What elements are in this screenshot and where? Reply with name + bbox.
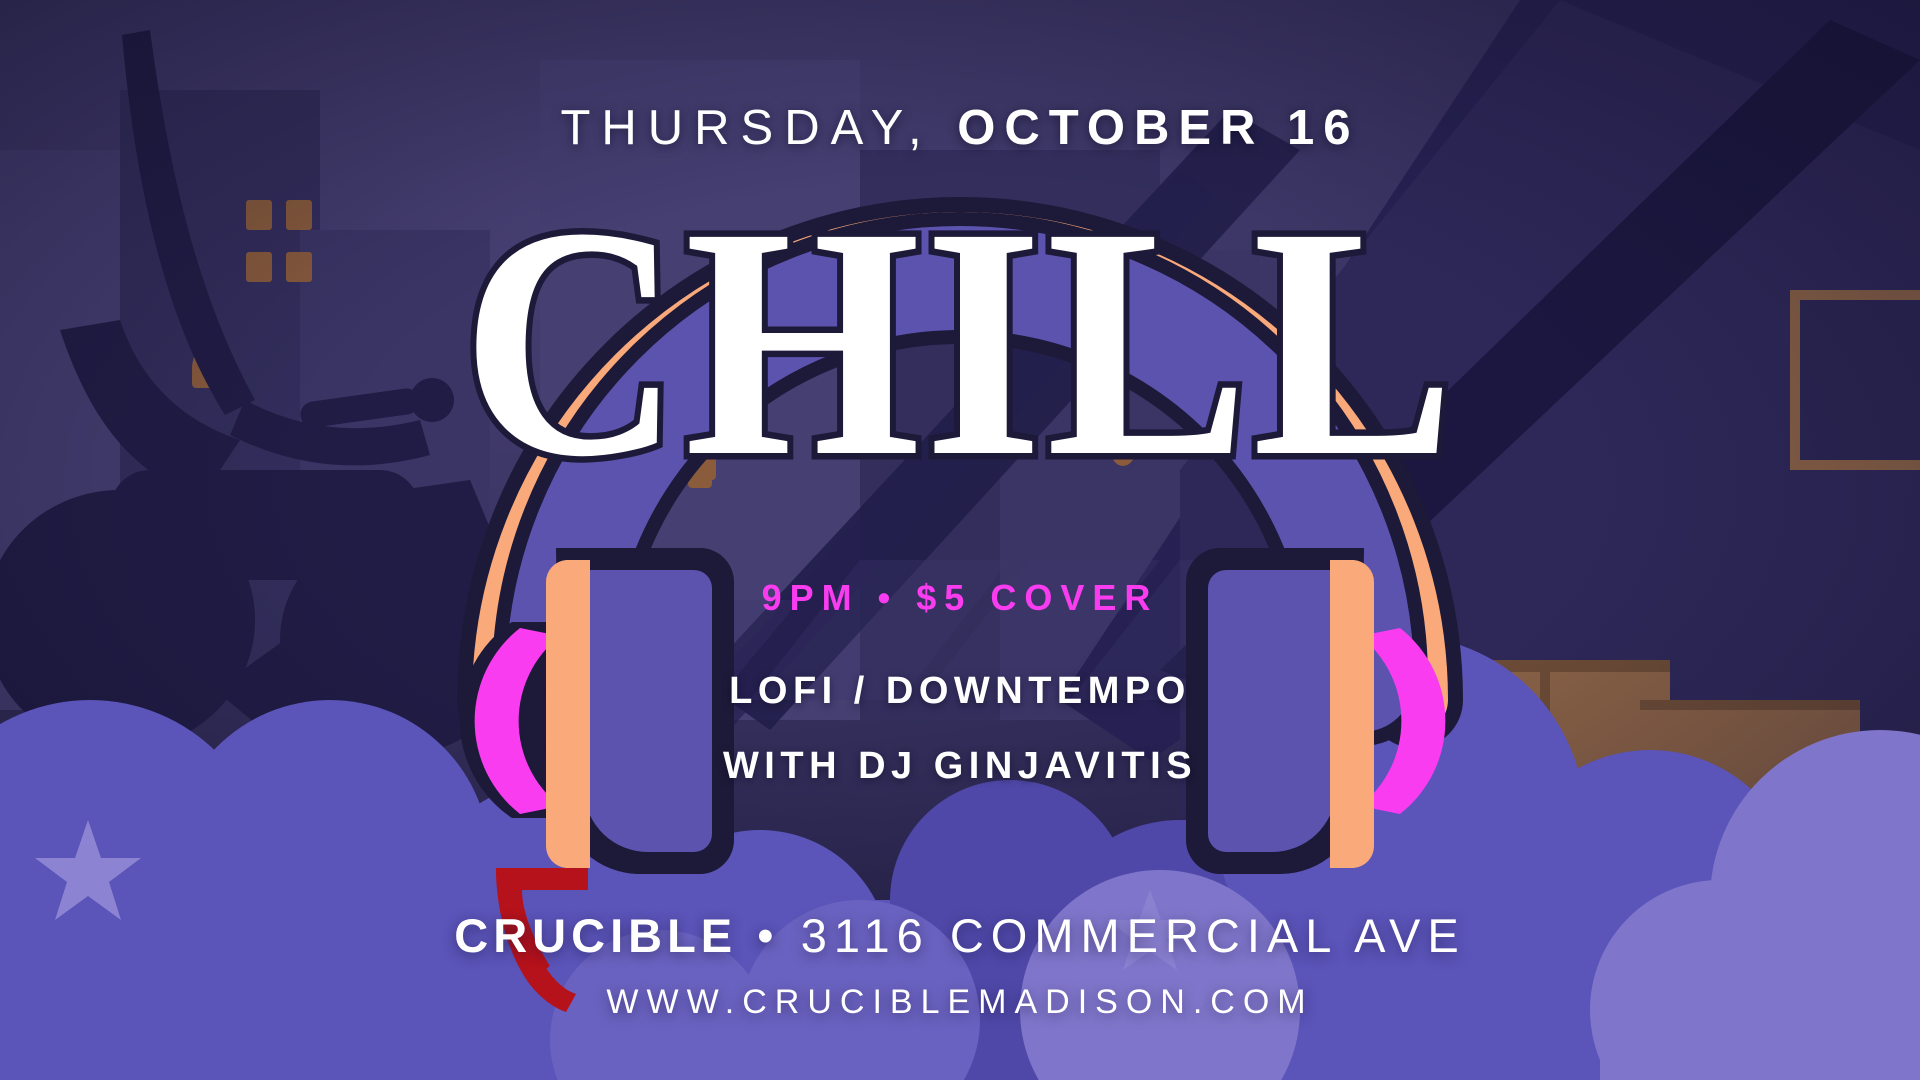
venue-name: CRUCIBLE: [454, 909, 737, 962]
dj-line: WITH DJ GINJAVITIS: [0, 745, 1920, 788]
venue-line: CRUCIBLE • 3116 COMMERCIAL AVE: [0, 912, 1920, 959]
event-date: THURSDAY, OCTOBER 16: [0, 104, 1920, 153]
event-weekday: THURSDAY,: [560, 101, 957, 155]
venue-separator: •: [737, 909, 801, 962]
venue-address: 3116 COMMERCIAL AVE: [801, 909, 1466, 962]
cover-charge: 9PM • $5 COVER: [0, 577, 1920, 619]
genre-line: LOFI / DOWNTEMPO: [0, 670, 1920, 713]
event-month-day: OCTOBER 16: [957, 101, 1359, 155]
page-title: CHILL: [77, 214, 1843, 471]
venue-url: WWW.CRUCIBLEMADISON.COM: [0, 983, 1920, 1022]
event-flyer: THURSDAY, OCTOBER 16 CHILL 9PM • $5 COVE…: [0, 0, 1920, 1080]
